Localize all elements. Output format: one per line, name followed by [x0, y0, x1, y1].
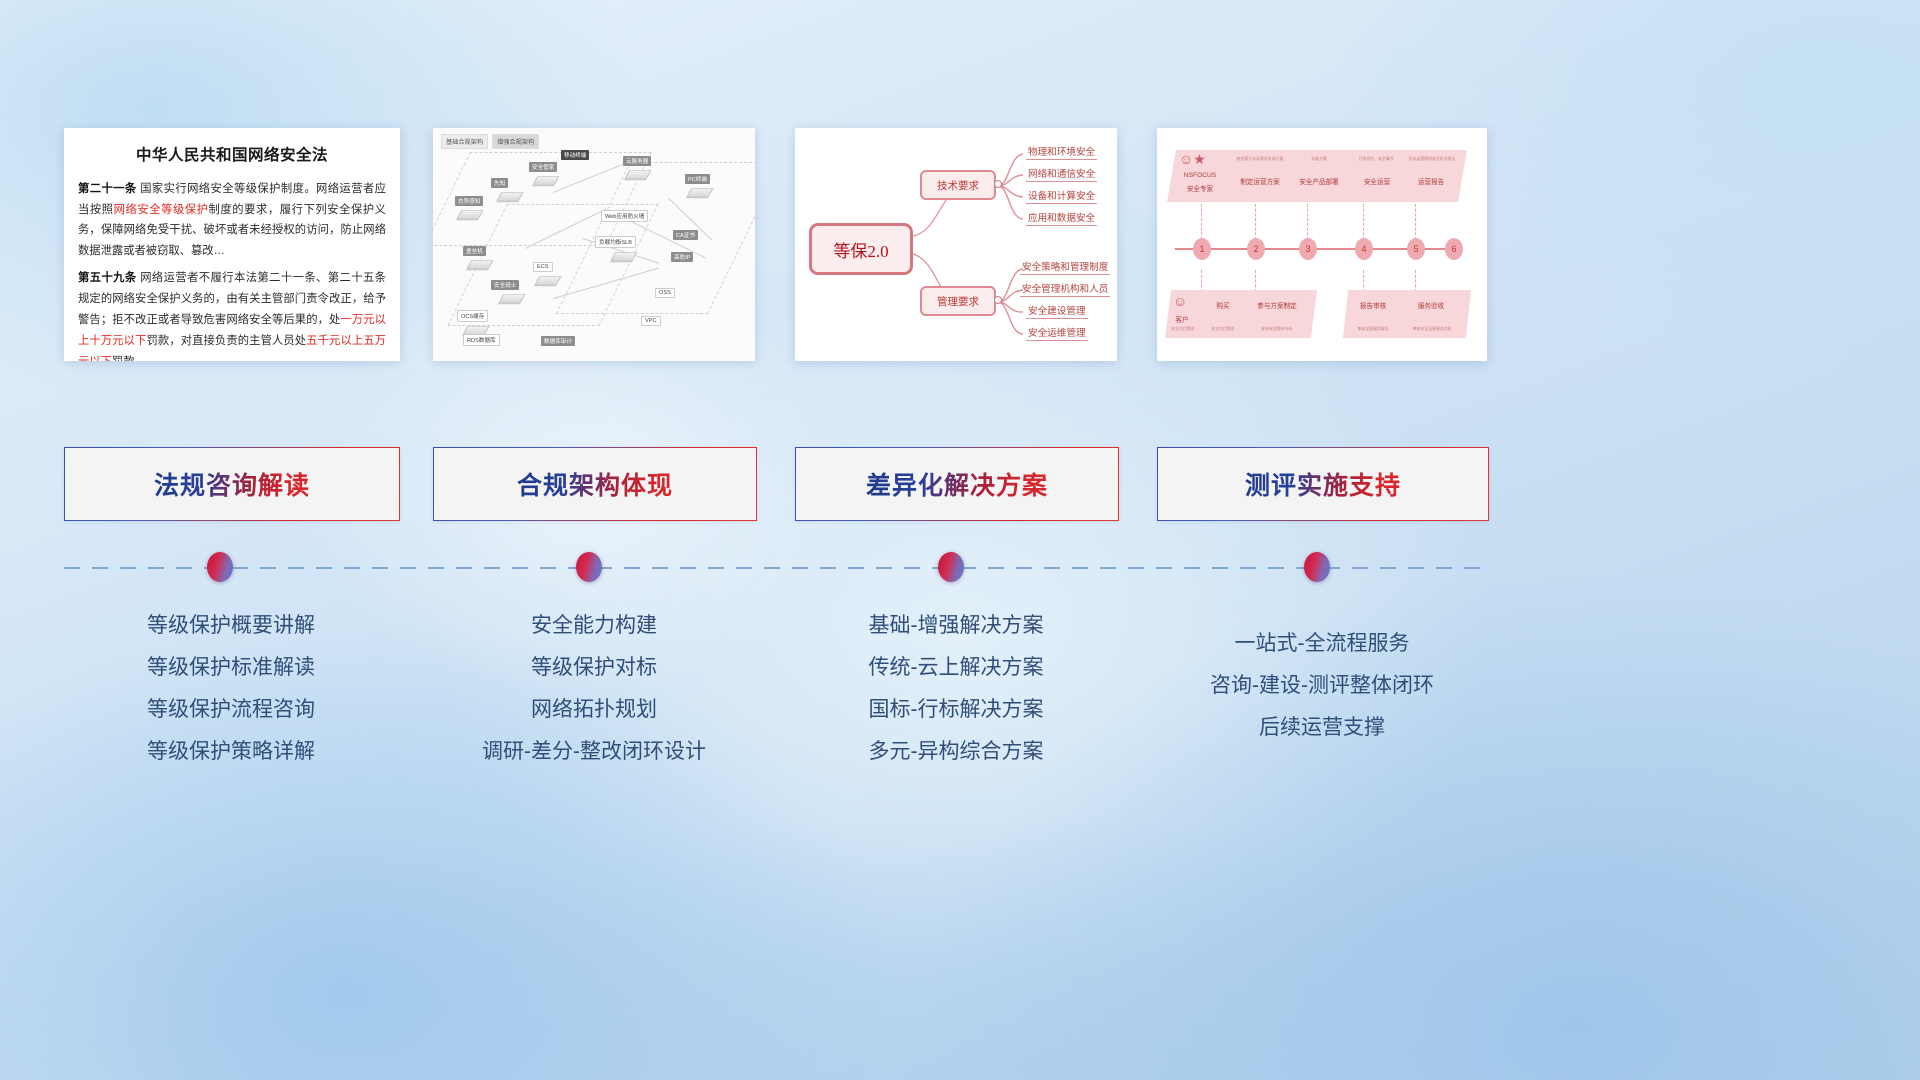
timeline-step-number[interactable]: 4 [1355, 238, 1373, 260]
nsfocus-bottom-step-sub: 审核运营服务报告 [1339, 326, 1407, 332]
list-item: 等级保护标准解读 [64, 647, 398, 689]
timeline-dashed-line [64, 566, 1488, 570]
arch-node-label: OCS缓存 [457, 310, 488, 322]
timeline-tick [1363, 270, 1365, 292]
arch-node-label: 数据库审计 [541, 336, 575, 346]
list-item: 传统-云上解决方案 [795, 647, 1117, 689]
timeline-tick [1255, 270, 1257, 292]
arch-node-pc-terminal: PC终端 [685, 174, 711, 199]
nsfocus-brand: NSFOCUS [1171, 172, 1229, 179]
nsfocus-bottom-step-sub: 配合安全需求分析 [1245, 326, 1309, 332]
arch-node-label: CA证书 [673, 230, 698, 240]
nsfocus-top-step-sub: 结合客户实际需求形成方案 [1231, 156, 1289, 162]
nsfocus-top-step-sub: 实施方案 [1293, 156, 1345, 162]
timeline-marker-4[interactable] [1304, 552, 1330, 582]
arch-node-label: RDS数据库 [463, 334, 500, 346]
nsfocus-bottom-step-title: 购买 [1201, 300, 1245, 310]
timeline-marker-1[interactable] [207, 552, 233, 582]
server-icon [533, 176, 560, 185]
timeline-marker-3[interactable] [938, 552, 964, 582]
arch-node-db-audit: 数据库审计 [541, 336, 575, 346]
law-title: 中华人民共和国网络安全法 [78, 142, 386, 171]
arch-node-anti-ddos-ip: 高防IP [671, 252, 693, 262]
mindmap-leaf[interactable]: 安全管理机构和人员 [1020, 281, 1110, 297]
arch-node-label: 堡垒机 [463, 246, 486, 256]
arch-node-security-guard: 安全锐士 [491, 280, 523, 305]
arch-node-mobile-terminal: 移动终端 [561, 150, 589, 160]
section-items-1: 等级保护概要讲解 等级保护标准解读 等级保护流程咨询 等级保护策略详解 [64, 605, 398, 773]
card-nsfocus-service-timeline[interactable]: ☺★ NSFOCUS 安全专家 结合客户实际需求形成方案 制定运营方案 实施方案… [1157, 128, 1487, 361]
architecture-diagram: 基础合规架构 增强合规架构 先知 态势感知 [433, 128, 755, 361]
expert-avatar-icon: ☺★ [1179, 152, 1206, 166]
arch-node-label: VPC [641, 316, 661, 326]
arch-node-vpc: VPC [641, 316, 661, 326]
mindmap-leaf[interactable]: 应用和数据安全 [1026, 210, 1097, 226]
section-title-box-3[interactable]: 差异化解决方案 [795, 447, 1119, 521]
card-compliance-architecture[interactable]: 基础合规架构 增强合规架构 先知 态势感知 [433, 128, 755, 361]
section-items-3: 基础-增强解决方案 传统-云上解决方案 国标-行标解决方案 多元-异构综合方案 [795, 605, 1117, 773]
arch-node-label: 先知 [491, 178, 508, 188]
nsfocus-top-step-title: 运营报告 [1405, 176, 1457, 186]
server-icon [497, 192, 524, 201]
arch-node-ecs: ECS [533, 262, 559, 287]
mindmap-leaf[interactable]: 安全运维管理 [1026, 325, 1088, 341]
nsfocus-top-step-title: 制定运营方案 [1231, 176, 1289, 186]
law-article-21-label: 第二十一条 [78, 183, 137, 195]
section-items-row: 等级保护概要讲解 等级保护标准解读 等级保护流程咨询 等级保护策略详解 安全能力… [0, 605, 1920, 825]
arch-node-security-butler: 安全管家 [529, 162, 557, 187]
section-title-box-1[interactable]: 法规咨询解读 [64, 447, 400, 521]
nsfocus-customer-label: 客户 [1165, 314, 1199, 324]
timeline-tick [1201, 204, 1203, 240]
nsfocus-timeline: ☺★ NSFOCUS 安全专家 结合客户实际需求形成方案 制定运营方案 实施方案… [1157, 128, 1487, 361]
card-cybersecurity-law[interactable]: 中华人民共和国网络安全法 第二十一条 国家实行网络安全等级保护制度。网络运营者应… [64, 128, 400, 361]
list-item: 调研-差分-整改闭环设计 [433, 731, 755, 773]
law-article-21-highlight: 网络安全等级保护 [114, 204, 209, 216]
arch-node-rds: RDS数据库 [463, 334, 500, 346]
list-item: 等级保护对标 [433, 647, 755, 689]
list-item: 后续运营支撑 [1157, 707, 1487, 749]
arch-node-label: 云服务器 [623, 156, 651, 166]
mindmap-branch-label: 管理要求 [937, 294, 979, 309]
nsfocus-bottom-step-title: 服务验收 [1405, 300, 1457, 310]
arch-node-oss: OSS [655, 288, 675, 298]
section-title-label: 差异化解决方案 [866, 466, 1048, 502]
mindmap-branch-management[interactable]: 管理要求 [920, 286, 996, 316]
cards-row: 中华人民共和国网络安全法 第二十一条 国家实行网络安全等级保护制度。网络运营者应… [0, 0, 1920, 420]
timeline-tick [1307, 204, 1309, 240]
arch-node-xianzhi: 先知 [491, 178, 521, 203]
arch-node-label: 态势感知 [455, 196, 483, 206]
server-icon [625, 170, 652, 179]
section-title-box-2[interactable]: 合规架构体现 [433, 447, 757, 521]
nsfocus-top-step-sub: 形成运营期间安全状况报告 [1401, 156, 1463, 162]
timeline-step-number[interactable]: 2 [1247, 238, 1265, 260]
arch-node-label: PC终端 [685, 174, 710, 184]
section-title-label: 合规架构体现 [517, 466, 673, 502]
timeline-tick [1415, 204, 1417, 240]
timeline-tick [1415, 270, 1417, 292]
list-item: 多元-异构综合方案 [795, 731, 1117, 773]
mindmap-leaf[interactable]: 安全策略和管理制度 [1020, 259, 1110, 275]
arch-node-ca-cert: CA证书 [673, 230, 698, 240]
arch-node-cloud-server: 云服务器 [623, 156, 651, 181]
nsfocus-bottom-step-sub: 审核安全运营服务总结 [1399, 326, 1465, 332]
timeline-tick [1201, 270, 1203, 292]
server-icon [611, 252, 638, 261]
server-icon [687, 188, 714, 197]
section-title-box-4[interactable]: 测评实施支持 [1157, 447, 1489, 521]
mindmap-leaf[interactable]: 设备和计算安全 [1026, 188, 1097, 204]
mindmap-branch-label: 技术要求 [937, 178, 979, 193]
section-items-4: 一站式-全流程服务 咨询-建设-测评整体闭环 后续运营支撑 [1157, 623, 1487, 749]
arch-node-label: 负载均衡SLB [595, 236, 636, 248]
arch-node-label: OSS [655, 288, 675, 298]
arch-node-label: 安全管家 [529, 162, 557, 172]
timeline-marker-2[interactable] [576, 552, 602, 582]
timeline-step-number[interactable]: 1 [1193, 238, 1211, 260]
timeline-step-number[interactable]: 6 [1445, 238, 1463, 260]
arch-node-label: 高防IP [671, 252, 693, 262]
server-icon [535, 276, 562, 285]
arch-node-label: 移动终端 [561, 150, 589, 160]
arch-node-label: Web应用防火墙 [601, 210, 648, 222]
nsfocus-bottom-step-title: 参与方案制定 [1245, 300, 1309, 310]
list-item: 一站式-全流程服务 [1157, 623, 1487, 665]
law-article-59-text-b: 罚款，对直接负责的主管人员处 [146, 335, 306, 347]
mindmap-leaf[interactable]: 物理和环境安全 [1026, 144, 1097, 160]
mindmap-leaf[interactable]: 网络和通信安全 [1026, 166, 1097, 182]
server-icon [499, 294, 526, 303]
arch-node-label: 安全锐士 [491, 280, 519, 290]
nsfocus-bottom-step-title: 报告审核 [1347, 300, 1399, 310]
server-icon [467, 260, 494, 269]
mindmap-collapse-icon[interactable] [994, 296, 1002, 304]
list-item: 安全能力构建 [433, 605, 755, 647]
arch-node-slb: 负载均衡SLB [595, 236, 636, 263]
list-item: 国标-行标解决方案 [795, 689, 1117, 731]
list-item: 基础-增强解决方案 [795, 605, 1117, 647]
law-article-59: 第五十九条 网络运营者不履行本法第二十一条、第二十五条规定的网络安全保护义务的，… [78, 268, 386, 361]
list-item: 等级保护策略详解 [64, 731, 398, 773]
arch-node-label: ECS [533, 262, 553, 272]
mindmap-root-node[interactable]: 等保2.0 [809, 223, 913, 275]
mindmap-collapse-icon[interactable] [994, 180, 1002, 188]
law-article-59-label: 第五十九条 [78, 272, 137, 284]
section-title-row: 法规咨询解读 合规架构体现 差异化解决方案 测评实施支持 [0, 447, 1920, 523]
timeline-step-number[interactable]: 5 [1407, 238, 1425, 260]
arch-node-waf: Web应用防火墙 [601, 210, 648, 222]
section-title-label: 测评实施支持 [1245, 466, 1401, 502]
arch-node-situational-awareness: 态势感知 [455, 196, 483, 221]
mindmap-branch-technical[interactable]: 技术要求 [920, 170, 996, 200]
nsfocus-top-step-title: 安全运营 [1349, 176, 1405, 186]
nsfocus-top-step-sub: 日常巡检、安全事件 [1345, 156, 1407, 162]
section-title-label: 法规咨询解读 [154, 466, 310, 502]
list-item: 等级保护流程咨询 [64, 689, 398, 731]
arch-node-ocs-cache: OCS缓存 [457, 310, 488, 337]
customer-avatar-icon: ☺ [1173, 294, 1187, 308]
timeline-step-number[interactable]: 3 [1299, 238, 1317, 260]
list-item: 等级保护概要讲解 [64, 605, 398, 647]
timeline-tick [1363, 204, 1365, 240]
mindmap-root-label: 等保2.0 [833, 237, 888, 262]
section-items-2: 安全能力构建 等级保护对标 网络拓扑规划 调研-差分-整改闭环设计 [433, 605, 755, 773]
nsfocus-brand-sub: 安全专家 [1171, 183, 1229, 193]
law-article-59-text-c: 罚款。 [112, 356, 146, 361]
nsfocus-bottom-step-sub: 安全交付需求 [1197, 326, 1249, 332]
server-icon [457, 210, 484, 219]
nsfocus-top-step-title: 安全产品部署 [1289, 176, 1349, 186]
timeline-tick [1255, 204, 1257, 240]
card-mindmap-dengbao[interactable]: 等保2.0 技术要求 管理要求 物理和环境安全 网络和通信安全 设备和计算安全 … [795, 128, 1117, 361]
law-article-21: 第二十一条 国家实行网络安全等级保护制度。网络运营者应当按照网络安全等级保护制度… [78, 179, 386, 263]
mindmap-leaf[interactable]: 安全建设管理 [1026, 303, 1088, 319]
law-text-body: 中华人民共和国网络安全法 第二十一条 国家实行网络安全等级保护制度。网络运营者应… [64, 128, 400, 361]
arch-node-bastion-host: 堡垒机 [463, 246, 491, 271]
mindmap: 等保2.0 技术要求 管理要求 物理和环境安全 网络和通信安全 设备和计算安全 … [795, 128, 1117, 361]
list-item: 咨询-建设-测评整体闭环 [1157, 665, 1487, 707]
list-item: 网络拓扑规划 [433, 689, 755, 731]
